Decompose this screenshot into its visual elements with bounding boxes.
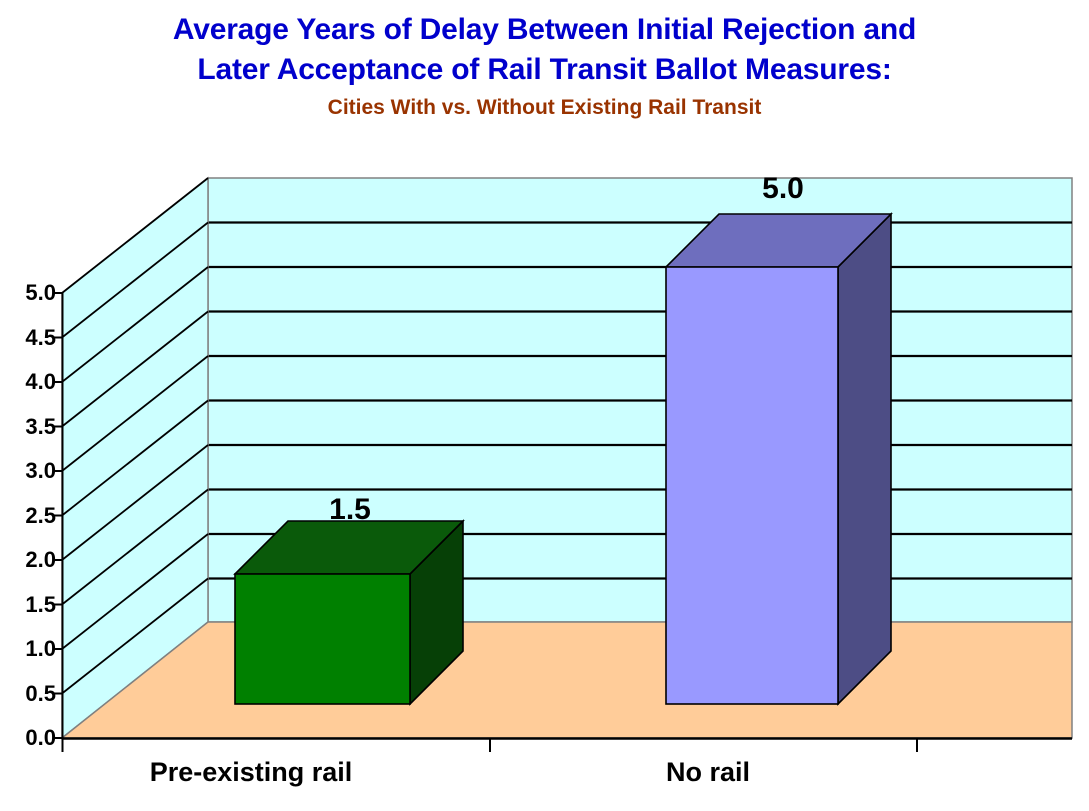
y-tick-label-3.5: 3.5 bbox=[0, 414, 56, 440]
x-category-label-no-rail: No rail bbox=[666, 757, 750, 788]
y-tick-label-1.0: 1.0 bbox=[0, 636, 56, 662]
bar-pre-existing-rail[interactable] bbox=[235, 521, 463, 704]
plot-area bbox=[0, 0, 1089, 811]
bar-2-side-face bbox=[838, 214, 891, 704]
bar-1-front-face bbox=[235, 574, 410, 704]
bar-2-value-label: 5.0 bbox=[762, 172, 804, 206]
y-tick-label-0.0: 0.0 bbox=[0, 725, 56, 751]
bar-no-rail[interactable] bbox=[666, 214, 891, 704]
y-tick-label-3.0: 3.0 bbox=[0, 458, 56, 484]
y-tick-label-4.0: 4.0 bbox=[0, 369, 56, 395]
x-axis-ticks bbox=[63, 738, 918, 752]
floor bbox=[62, 622, 1072, 738]
y-tick-label-5.0: 5.0 bbox=[0, 280, 56, 306]
y-tick-label-4.5: 4.5 bbox=[0, 325, 56, 351]
bar-1-value-label: 1.5 bbox=[329, 493, 371, 527]
y-tick-label-2.0: 2.0 bbox=[0, 547, 56, 573]
y-tick-label-1.5: 1.5 bbox=[0, 592, 56, 618]
y-tick-label-0.5: 0.5 bbox=[0, 681, 56, 707]
y-tick-label-2.5: 2.5 bbox=[0, 503, 56, 529]
bar-2-front-face bbox=[666, 267, 838, 704]
x-category-label-pre-existing-rail: Pre-existing rail bbox=[150, 757, 353, 788]
chart-container: Average Years of Delay Between Initial R… bbox=[0, 0, 1089, 811]
